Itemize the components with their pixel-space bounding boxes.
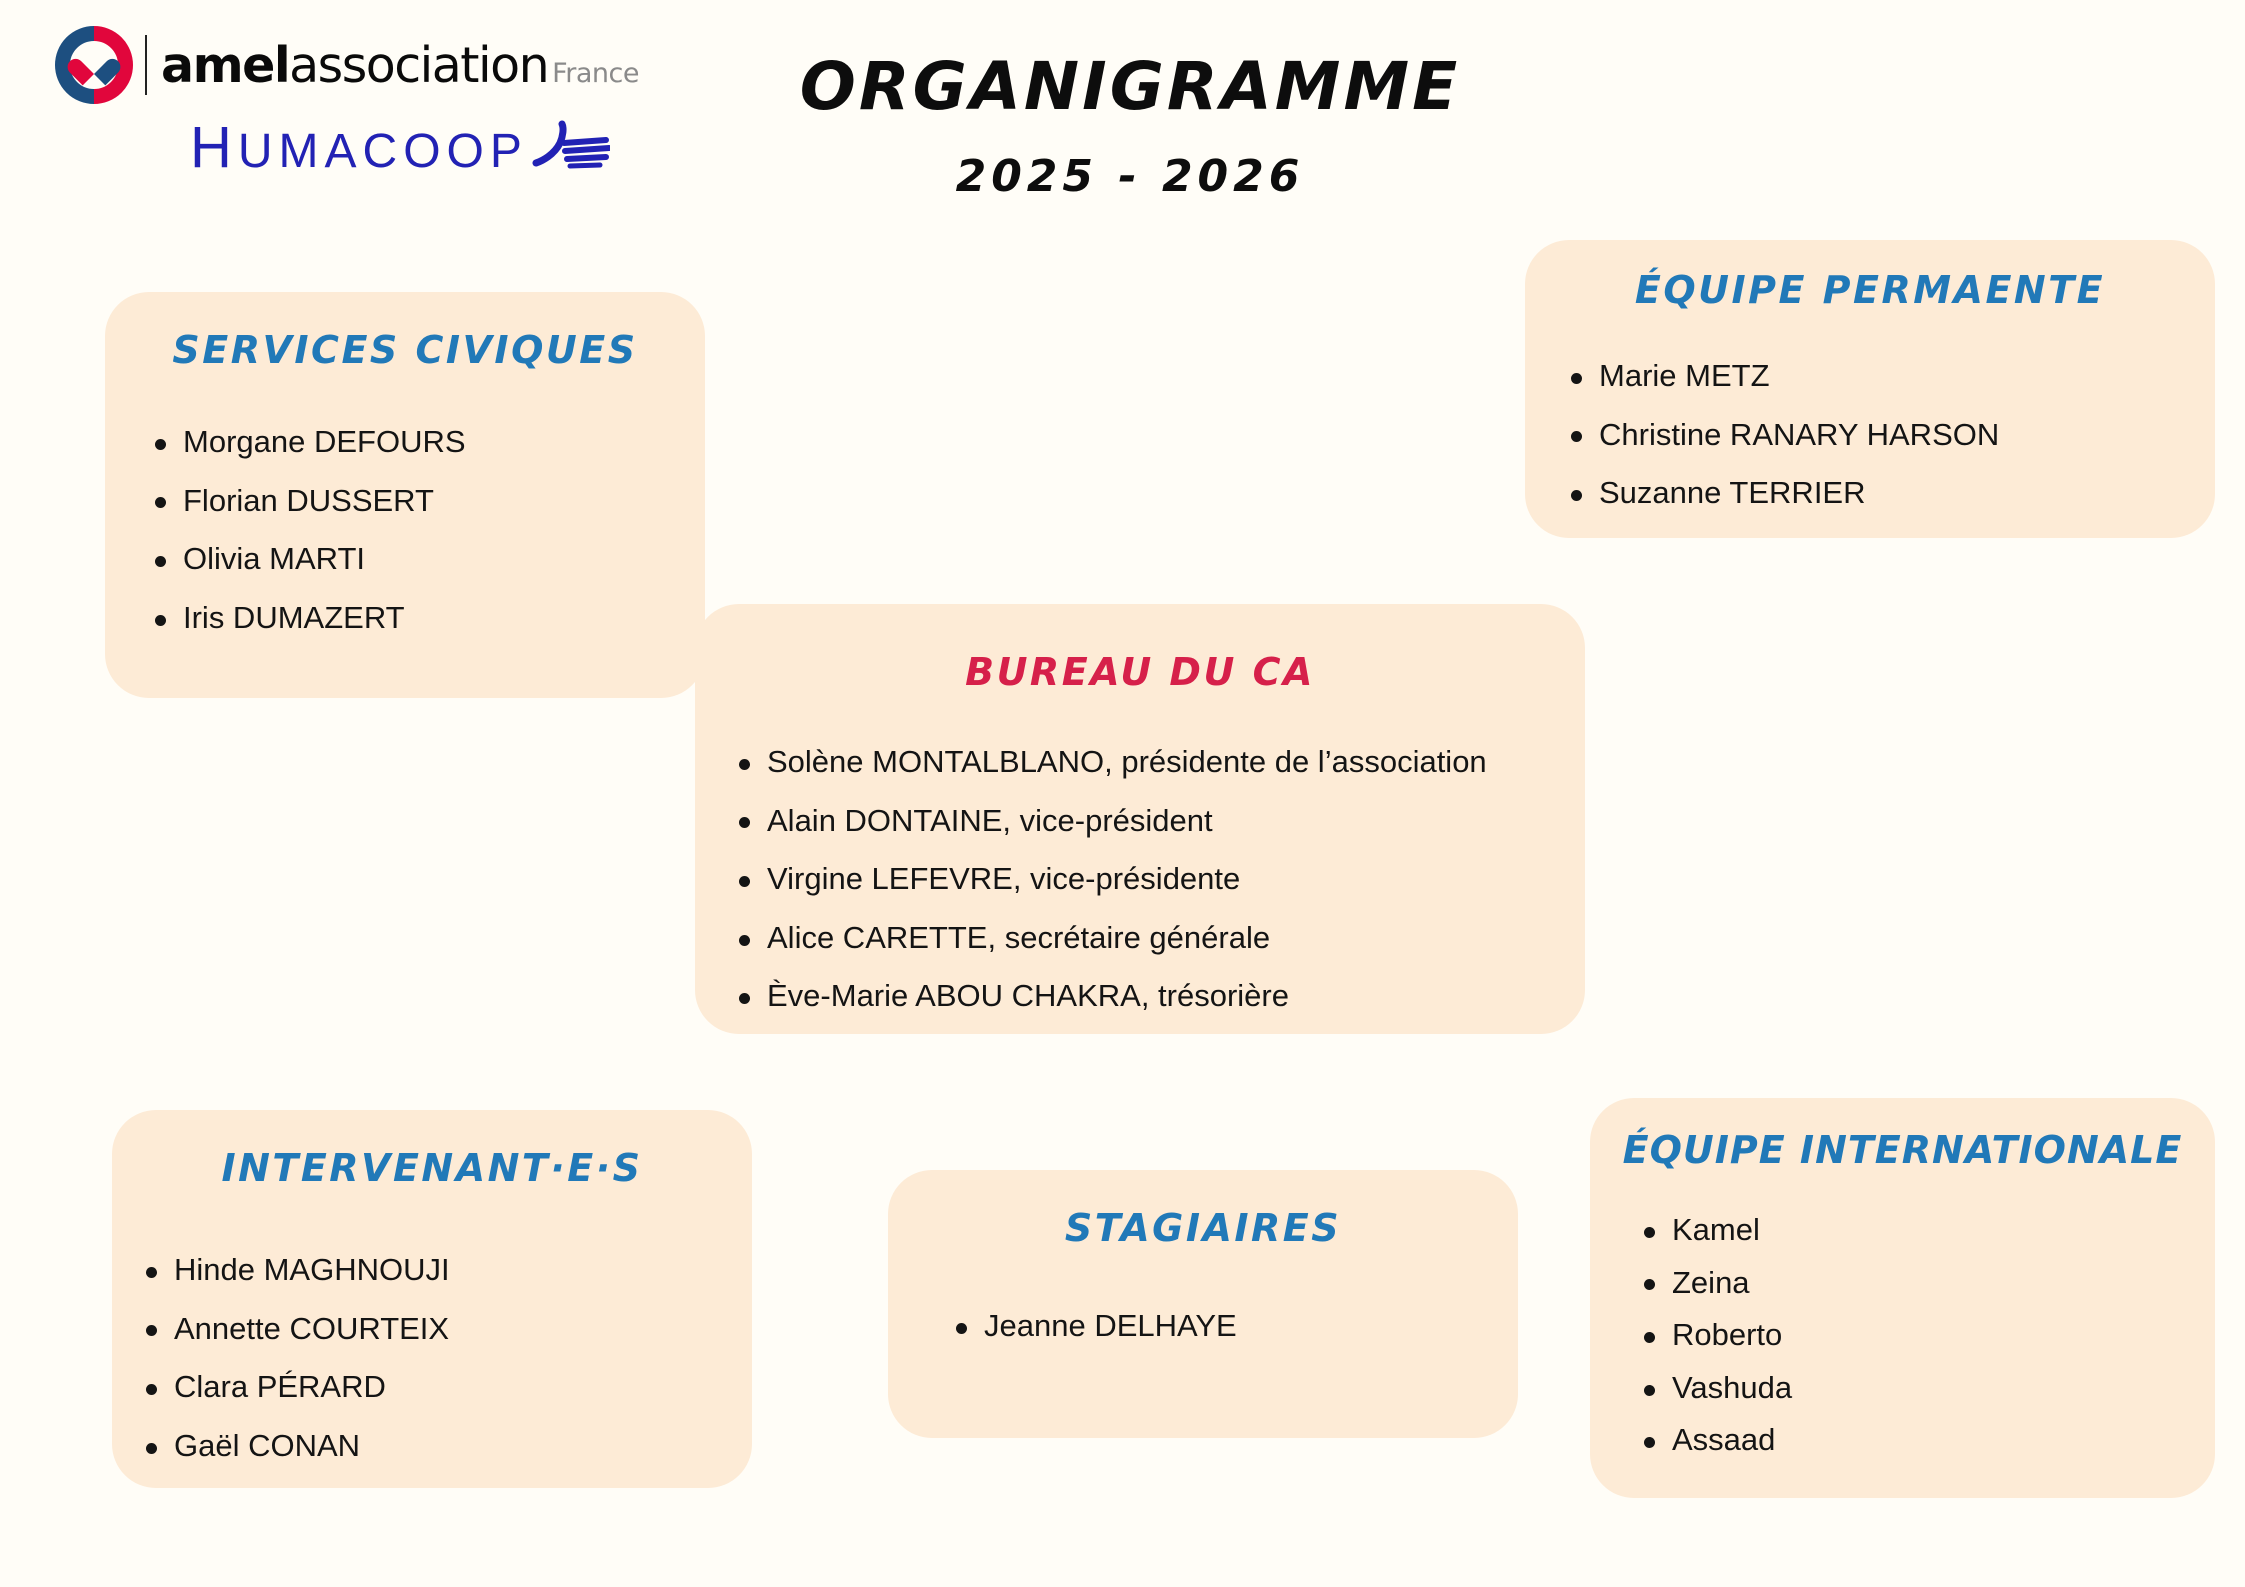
card-equipe-permanente: ÉQUIPE PERMAENTE Marie METZ Christine RA… xyxy=(1525,240,2215,538)
list-item: Iris DUMAZERT xyxy=(149,600,705,637)
list-item: Gaël CONAN xyxy=(140,1428,752,1465)
logo-block: amel association France HUMACOOP xyxy=(55,26,695,186)
list-item: Kamel xyxy=(1638,1212,2215,1249)
humacoop-logo: HUMACOOP xyxy=(190,114,610,181)
card-title-bureau-du-ca: BUREAU DU CA xyxy=(695,650,1585,694)
list-item: Assaad xyxy=(1638,1422,2215,1459)
list-item: Ève-Marie ABOU CHAKRA, trésorière xyxy=(733,978,1585,1015)
card-title-stagiaires: STAGIAIRES xyxy=(888,1206,1518,1250)
amel-country-text: France xyxy=(552,58,639,89)
humacoop-wordmark: HUMACOOP xyxy=(190,114,528,181)
card-intervenants: INTERVENANT·E·S Hinde MAGHNOUJI Annette … xyxy=(112,1110,752,1488)
amel-light-text: association xyxy=(289,37,548,94)
list-item: Clara PÉRARD xyxy=(140,1369,752,1406)
list-item: Vashuda xyxy=(1638,1370,2215,1407)
page-title: ORGANIGRAMME xyxy=(760,52,1500,121)
humacoop-bird-icon xyxy=(532,119,610,176)
member-list-intervenants: Hinde MAGHNOUJI Annette COURTEIX Clara P… xyxy=(140,1252,752,1464)
card-services-civiques: SERVICES CIVIQUES Morgane DEFOURS Floria… xyxy=(105,292,705,698)
list-item: Suzanne TERRIER xyxy=(1565,475,2215,512)
list-item: Hinde MAGHNOUJI xyxy=(140,1252,752,1289)
list-item: Virgine LEFEVRE, vice-présidente xyxy=(733,861,1585,898)
card-title-intervenants: INTERVENANT·E·S xyxy=(112,1146,752,1190)
list-item: Zeina xyxy=(1638,1265,2215,1302)
card-title-services-civiques: SERVICES CIVIQUES xyxy=(105,328,705,372)
list-item: Marie METZ xyxy=(1565,358,2215,395)
list-item: Alice CARETTE, secrétaire générale xyxy=(733,920,1585,957)
member-list-bureau-du-ca: Solène MONTALBLANO, présidente de l’asso… xyxy=(733,744,1585,1015)
list-item: Olivia MARTI xyxy=(149,541,705,578)
list-item: Roberto xyxy=(1638,1317,2215,1354)
amel-association-logo: amel association France xyxy=(55,26,639,104)
list-item: Florian DUSSERT xyxy=(149,483,705,520)
card-stagiaires: STAGIAIRES Jeanne DELHAYE xyxy=(888,1170,1518,1438)
list-item: Christine RANARY HARSON xyxy=(1565,417,2215,454)
page-subtitle: 2025 - 2026 xyxy=(760,151,1500,202)
list-item: Morgane DEFOURS xyxy=(149,424,705,461)
member-list-services-civiques: Morgane DEFOURS Florian DUSSERT Olivia M… xyxy=(149,424,705,636)
card-bureau-du-ca: BUREAU DU CA Solène MONTALBLANO, préside… xyxy=(695,604,1585,1034)
list-item: Jeanne DELHAYE xyxy=(950,1308,1518,1345)
amel-bold-text: amel xyxy=(161,37,289,94)
logo-divider xyxy=(145,35,147,95)
list-item: Alain DONTAINE, vice-président xyxy=(733,803,1585,840)
title-block: ORGANIGRAMME 2025 - 2026 xyxy=(760,52,1500,202)
list-item: Annette COURTEIX xyxy=(140,1311,752,1348)
list-item: Solène MONTALBLANO, présidente de l’asso… xyxy=(733,744,1585,781)
amel-heart-ring-icon xyxy=(55,26,133,104)
organigramme-poster: amel association France HUMACOOP ORGANIG… xyxy=(0,0,2245,1587)
card-title-equipe-internationale: ÉQUIPE INTERNATIONALE xyxy=(1590,1128,2215,1172)
member-list-equipe-permanente: Marie METZ Christine RANARY HARSON Suzan… xyxy=(1565,358,2215,512)
heart-icon xyxy=(78,48,110,80)
card-equipe-internationale: ÉQUIPE INTERNATIONALE Kamel Zeina Robert… xyxy=(1590,1098,2215,1498)
member-list-equipe-internationale: Kamel Zeina Roberto Vashuda Assaad xyxy=(1638,1212,2215,1459)
amel-wordmark: amel association France xyxy=(161,37,639,94)
member-list-stagiaires: Jeanne DELHAYE xyxy=(950,1308,1518,1345)
card-title-equipe-permanente: ÉQUIPE PERMAENTE xyxy=(1525,268,2215,312)
